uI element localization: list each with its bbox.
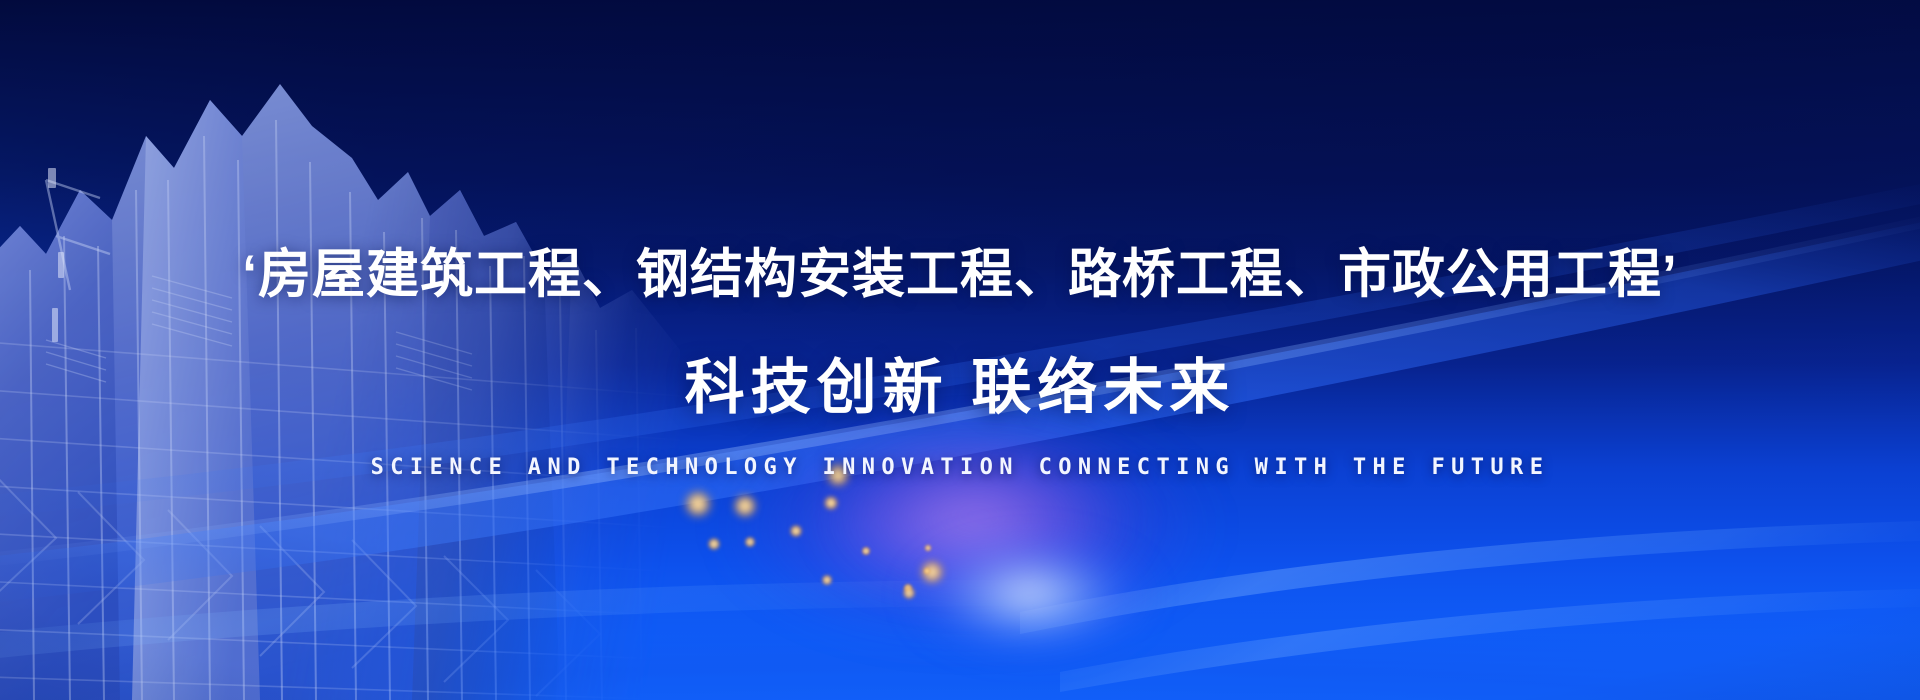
hero-banner: ‘房屋建筑工程、钢结构安装工程、路桥工程、市政公用工程’ 科技创新 联络未来 S… [0, 0, 1920, 700]
vignette-overlay [0, 0, 1920, 700]
